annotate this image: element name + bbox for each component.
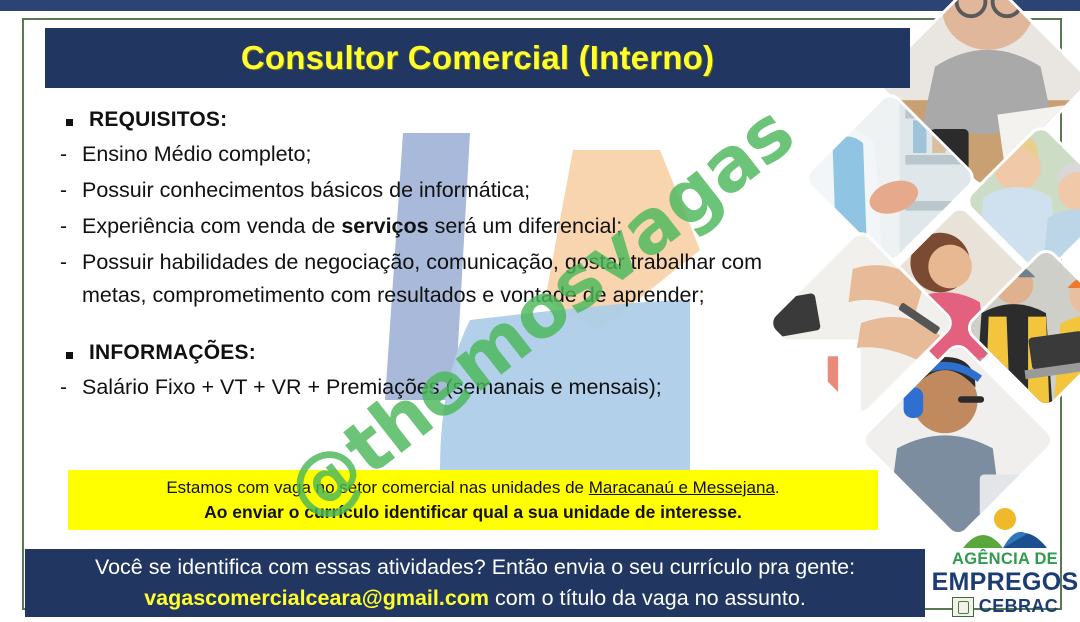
- sun-book-icon: [957, 508, 1053, 550]
- poster-body: REQUISITOS: - Ensino Médio completo; - P…: [60, 108, 780, 407]
- job-posting-slide: Consultor Comercial (Interno) REQUISITOS…: [0, 0, 1080, 622]
- highlight-line-1: Estamos com vaga no setor comercial nas …: [166, 475, 779, 500]
- requirement-3-pre: Experiência com venda de: [82, 214, 341, 238]
- title-main: Consultor Comercial: [241, 39, 569, 76]
- highlight-units: Maracanaú e Messejana: [589, 478, 775, 497]
- requirements-heading: REQUISITOS:: [89, 108, 227, 132]
- logo-line-3-row: CEBRAC: [952, 596, 1058, 617]
- cebrac-seal-icon: [952, 597, 974, 617]
- list-item: - Ensino Médio completo;: [60, 138, 780, 171]
- square-bullet-icon: [66, 119, 73, 126]
- dash-marker: -: [60, 371, 82, 404]
- dash-marker: -: [60, 246, 82, 279]
- logo-line-1: AGÊNCIA DE: [952, 550, 1058, 569]
- requirement-text-3: Experiência com venda de serviços será u…: [82, 210, 622, 243]
- dash-marker: -: [60, 174, 82, 207]
- requirement-3-post: será um diferencial;: [429, 214, 623, 238]
- requirement-text-1: Ensino Médio completo;: [82, 138, 311, 171]
- information-text-1: Salário Fixo + VT + VR + Premiações (sem…: [82, 371, 662, 404]
- highlight-line1-pre: Estamos com vaga no setor comercial nas …: [166, 478, 588, 497]
- highlight-line1-post: .: [775, 478, 780, 497]
- agency-logo: AGÊNCIA DE EMPREGOS CEBRAC: [930, 508, 1080, 622]
- footer-line-2: vagascomercialceara@gmail.com com o títu…: [144, 583, 806, 614]
- highlight-line-2: Ao enviar o currículo identificar qual a…: [204, 500, 742, 525]
- requirement-text-2: Possuir conhecimentos básicos de informá…: [82, 174, 530, 207]
- title-banner: Consultor Comercial (Interno): [45, 28, 910, 88]
- email-address[interactable]: vagascomercialceara@gmail.com: [144, 586, 489, 610]
- section-spacer: [60, 315, 780, 341]
- requirement-text-4: Possuir habilidades de negociação, comun…: [82, 246, 780, 312]
- list-item: - Salário Fixo + VT + VR + Premiações (s…: [60, 371, 780, 404]
- information-heading: INFORMAÇÕES:: [89, 341, 256, 365]
- highlight-box: Estamos com vaga no setor comercial nas …: [68, 470, 878, 530]
- list-item: - Experiência com venda de serviços será…: [60, 210, 780, 243]
- contact-footer: Você se identifica com essas atividades?…: [25, 549, 925, 617]
- dash-marker: -: [60, 138, 82, 171]
- list-item: - Possuir conhecimentos básicos de infor…: [60, 174, 780, 207]
- square-bullet-icon: [66, 352, 73, 359]
- information-heading-row: INFORMAÇÕES:: [60, 341, 780, 365]
- footer-line2-post: com o título da vaga no assunto.: [489, 586, 806, 610]
- logo-line-2: EMPREGOS: [932, 569, 1079, 595]
- page-title: Consultor Comercial (Interno): [241, 39, 714, 77]
- dash-marker: -: [60, 210, 82, 243]
- requirements-heading-row: REQUISITOS:: [60, 108, 780, 132]
- footer-line-1: Você se identifica com essas atividades?…: [95, 552, 855, 583]
- list-item: - Possuir habilidades de negociação, com…: [60, 246, 780, 312]
- requirement-3-bold: serviços: [341, 214, 428, 238]
- logo-line-3: CEBRAC: [979, 596, 1058, 617]
- title-sub: (Interno): [579, 39, 715, 76]
